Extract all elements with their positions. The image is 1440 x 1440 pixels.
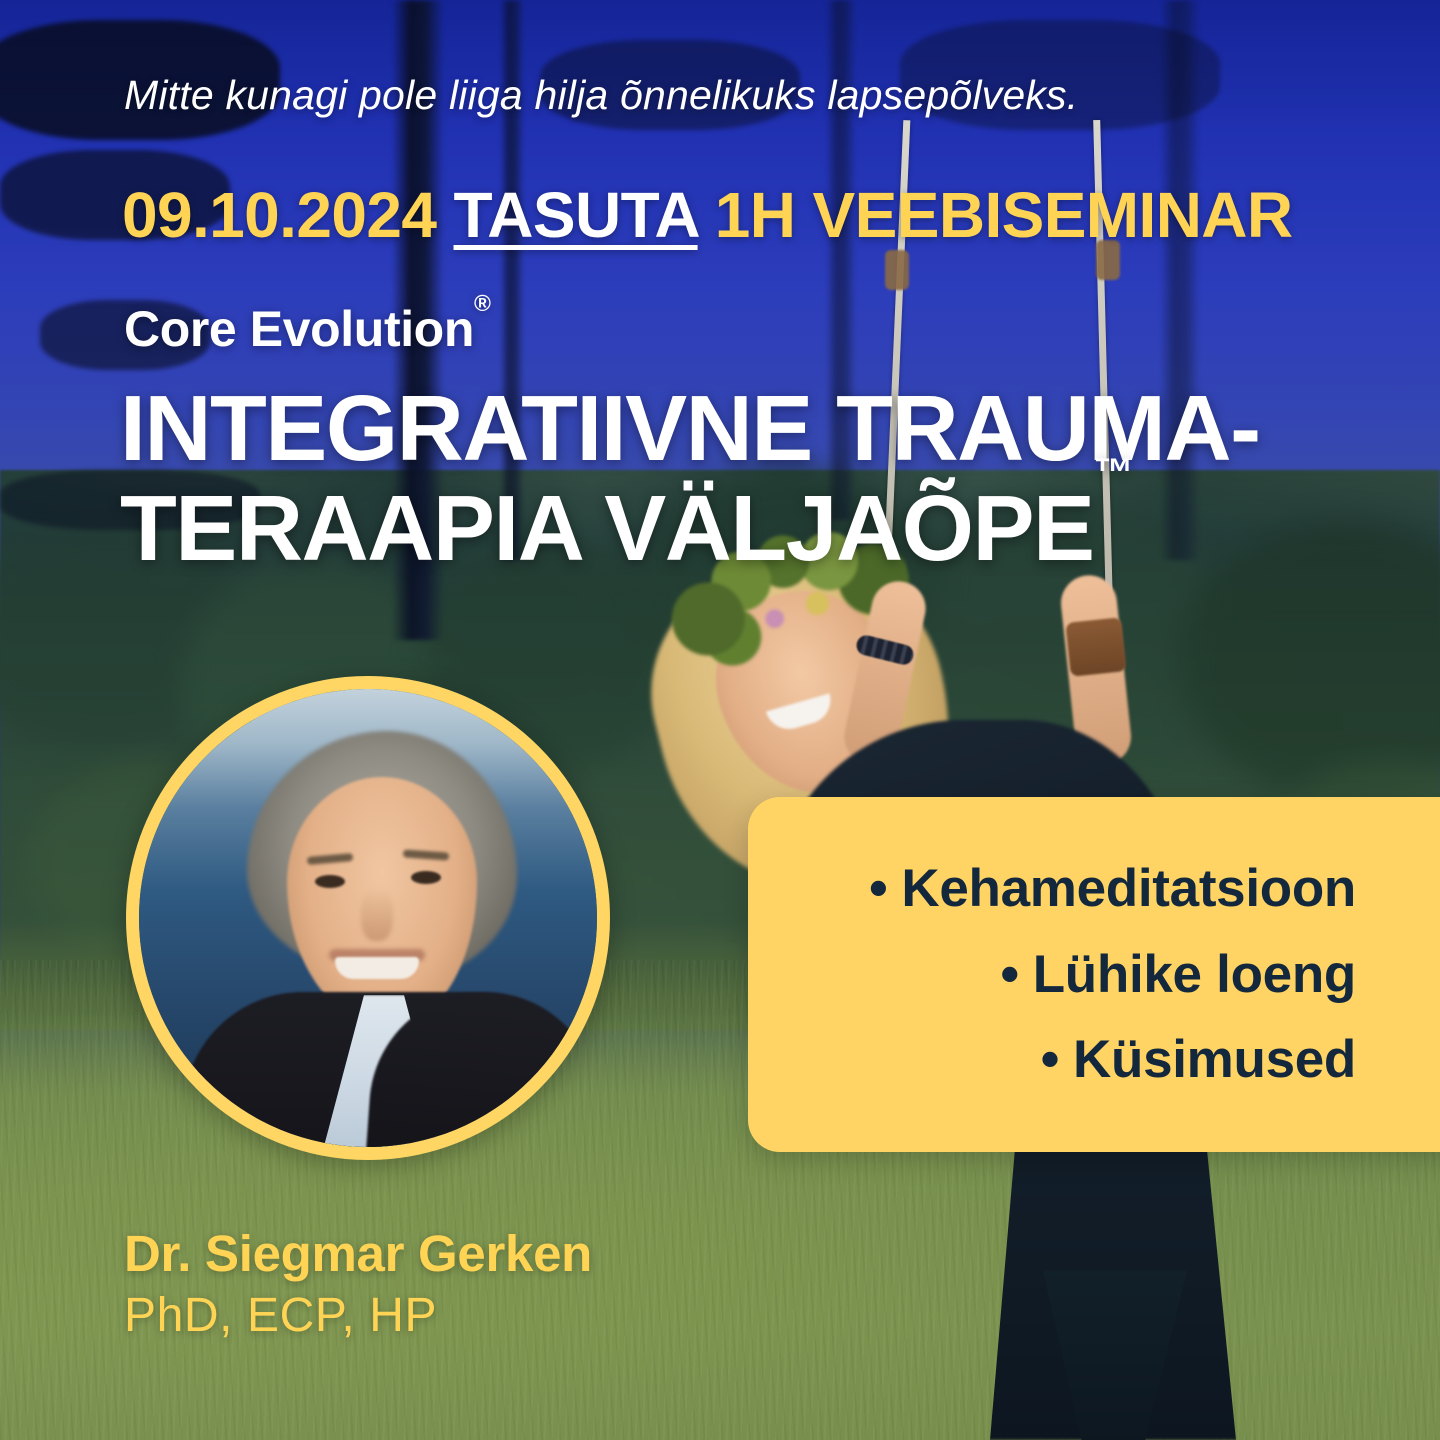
bullet-dot-icon: •	[1000, 945, 1018, 1004]
speaker-avatar	[126, 676, 610, 1160]
portrait-smile	[335, 957, 419, 979]
speaker-name: Dr. Siegmar Gerken	[124, 1224, 592, 1283]
list-item: •Küsimused	[1041, 1025, 1356, 1095]
portrait-eye	[411, 871, 441, 884]
speaker-credentials: PhD, ECP, HP	[124, 1288, 437, 1343]
event-line: 09.10.2024 TASUTA 1H VEEBISEMINAR	[122, 178, 1293, 252]
headline-line-2: TERAAPIA VÄLJAÕPE™	[120, 478, 1420, 578]
list-item: •Lühike loeng	[1000, 940, 1356, 1010]
list-item: •Kehameditatsioon	[869, 854, 1356, 924]
webinar-poster: Mitte kunagi pole liiga hilja õnnelikuks…	[0, 0, 1440, 1440]
swing-rope-knot	[885, 250, 909, 290]
brand-name: Core Evolution®	[124, 300, 491, 358]
woman-wrist-cuff	[1065, 617, 1126, 677]
bullet-dot-icon: •	[1041, 1030, 1059, 1089]
free-badge: TASUTA	[454, 179, 698, 251]
page-title: INTEGRATIIVNE TRAUMA- TERAAPIA VÄLJAÕPE™	[120, 378, 1420, 579]
woman-on-swing	[600, 120, 1320, 1440]
brand-label: Core Evolution	[124, 301, 474, 357]
event-format: 1H VEEBISEMINAR	[715, 179, 1293, 251]
trademark-mark-icon: ™	[1094, 451, 1134, 495]
headline-line-1: INTEGRATIIVNE TRAUMA-	[120, 378, 1420, 478]
list-item-label: Lühike loeng	[1033, 945, 1356, 1004]
registered-mark-icon: ®	[474, 290, 491, 316]
list-item-label: Kehameditatsioon	[901, 859, 1356, 918]
tagline: Mitte kunagi pole liiga hilja õnnelikuks…	[124, 72, 1384, 119]
event-date: 09.10.2024	[122, 179, 436, 251]
list-item-label: Küsimused	[1073, 1030, 1356, 1089]
program-card: •Kehameditatsioon •Lühike loeng •Küsimus…	[748, 797, 1440, 1152]
portrait-eye	[315, 875, 345, 888]
headline-line-2-text: TERAAPIA VÄLJAÕPE	[120, 476, 1094, 580]
bullet-dot-icon: •	[869, 859, 887, 918]
portrait-nose	[361, 889, 393, 941]
